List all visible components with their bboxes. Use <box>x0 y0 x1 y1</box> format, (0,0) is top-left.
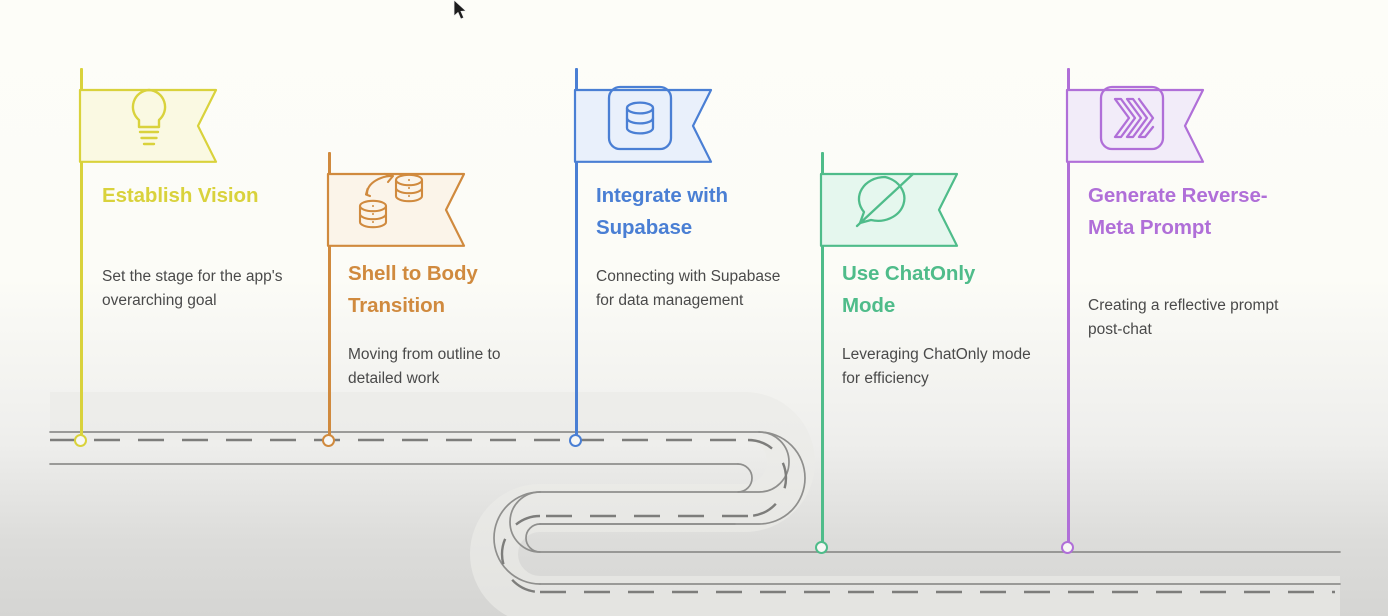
milestone-description: Creating a reflective prompt post-chat <box>1088 294 1283 342</box>
milestone-node[interactable] <box>1061 541 1074 554</box>
milestone-generate-reverse-meta-prompt[interactable]: Generate Reverse-Meta Prompt Creating a … <box>0 0 1388 616</box>
milestone-flag <box>1065 68 1207 164</box>
milestone-title: Generate Reverse-Meta Prompt <box>1088 180 1283 244</box>
roadmap-diagram: Establish Vision Set the stage for the a… <box>0 0 1388 616</box>
